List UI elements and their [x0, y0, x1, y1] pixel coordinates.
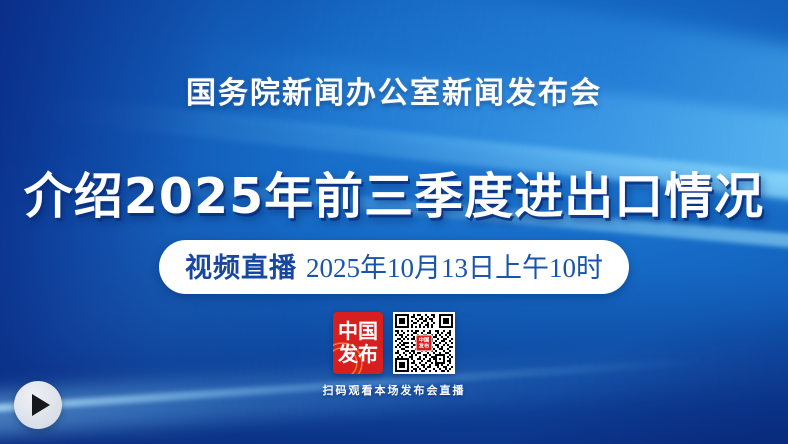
poster-headline: 介绍2025年前三季度进出口情况 [0, 157, 788, 228]
play-icon [32, 394, 50, 416]
broadcast-info-row: 视频直播 2025年10月13日上午10时 [0, 240, 788, 294]
logo-line-2: 发布 [338, 343, 378, 366]
live-badge-label: 视频直播 [185, 246, 297, 285]
qr-center-line-2: 发布 [419, 343, 429, 349]
broadcast-info-pill: 视频直播 2025年10月13日上午10时 [159, 240, 629, 294]
qr-center-logo: 中国 发布 [416, 335, 433, 352]
logo-line-1: 中国 [338, 320, 378, 343]
qr-center-line-1: 中国 [419, 337, 429, 343]
broadcast-datetime: 2025年10月13日上午10时 [306, 246, 603, 285]
scan-caption: 扫码观看本场发布会直播 [0, 382, 788, 398]
poster-content: 国务院新闻办公室新闻发布会 介绍2025年前三季度进出口情况 视频直播 2025… [0, 0, 788, 444]
china-release-logo: 中国 发布 [333, 312, 383, 374]
poster-kicker: 国务院新闻办公室新闻发布会 [0, 68, 788, 112]
qr-code[interactable]: 中国 发布 [393, 312, 455, 374]
play-button[interactable] [14, 381, 62, 429]
live-stream-poster: 国务院新闻办公室新闻发布会 介绍2025年前三季度进出口情况 视频直播 2025… [0, 0, 788, 444]
brand-and-qr-row: 中国 发布 [0, 312, 788, 374]
